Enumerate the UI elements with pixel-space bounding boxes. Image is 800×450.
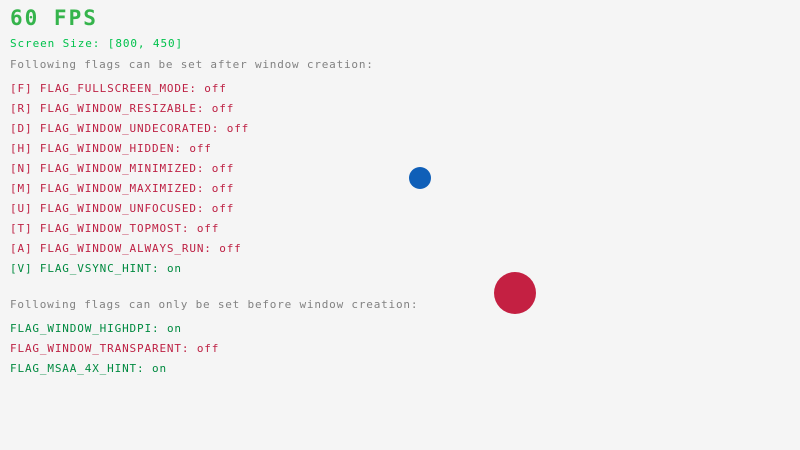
flag-shortcut-key: [R]	[10, 102, 40, 115]
fps-counter: 60 FPS	[10, 7, 98, 29]
flag-row-flag_window_maximized[interactable]: [M] FLAG_WINDOW_MAXIMIZED: off	[10, 179, 430, 199]
flag-row-flag_window_undecorated[interactable]: [D] FLAG_WINDOW_UNDECORATED: off	[10, 119, 430, 139]
flag-row-flag_fullscreen_mode[interactable]: [F] FLAG_FULLSCREEN_MODE: off	[10, 79, 430, 99]
screen-size-label: Screen Size: [800, 450]	[10, 38, 183, 50]
section-header-before-creation: Following flags can only be set before w…	[10, 299, 418, 311]
flag-shortcut-key: [F]	[10, 82, 40, 95]
flag-row-flag_vsync_hint[interactable]: [V] FLAG_VSYNC_HINT: on	[10, 259, 430, 279]
flag-list-before-creation: FLAG_WINDOW_HIGHDPI: onFLAG_WINDOW_TRANS…	[10, 319, 430, 379]
flag-name-label: FLAG_MSAA_4X_HINT:	[10, 362, 152, 375]
flag-shortcut-key: [D]	[10, 122, 40, 135]
flag-state-value: off	[197, 342, 219, 355]
flag-state-value: off	[189, 142, 211, 155]
flag-row-flag_window_hidden[interactable]: [H] FLAG_WINDOW_HIDDEN: off	[10, 139, 430, 159]
flag-state-value: off	[204, 82, 226, 95]
flag-row-flag_window_transparent[interactable]: FLAG_WINDOW_TRANSPARENT: off	[10, 339, 430, 359]
flag-shortcut-key: [M]	[10, 182, 40, 195]
flag-name-label: FLAG_WINDOW_ALWAYS_RUN:	[40, 242, 219, 255]
flag-row-flag_window_minimized[interactable]: [N] FLAG_WINDOW_MINIMIZED: off	[10, 159, 430, 179]
flag-state-value: off	[219, 242, 241, 255]
flag-row-flag_window_unfocused[interactable]: [U] FLAG_WINDOW_UNFOCUSED: off	[10, 199, 430, 219]
flag-row-flag_window_highdpi[interactable]: FLAG_WINDOW_HIGHDPI: on	[10, 319, 430, 339]
flag-shortcut-key: [H]	[10, 142, 40, 155]
flag-state-value: off	[212, 162, 234, 175]
flag-state-value: off	[212, 182, 234, 195]
flag-row-flag_window_topmost[interactable]: [T] FLAG_WINDOW_TOPMOST: off	[10, 219, 430, 239]
flag-shortcut-key: [T]	[10, 222, 40, 235]
bouncing-ball-blue	[409, 167, 431, 189]
raylib-window-canvas[interactable]: 60 FPS Screen Size: [800, 450] Following…	[0, 0, 800, 450]
flag-shortcut-key: [V]	[10, 262, 40, 275]
flag-name-label: FLAG_WINDOW_RESIZABLE:	[40, 102, 212, 115]
flag-name-label: FLAG_VSYNC_HINT:	[40, 262, 167, 275]
flag-name-label: FLAG_WINDOW_TRANSPARENT:	[10, 342, 197, 355]
flag-state-value: on	[167, 262, 182, 275]
flag-name-label: FLAG_WINDOW_MAXIMIZED:	[40, 182, 212, 195]
flag-shortcut-key: [U]	[10, 202, 40, 215]
flag-state-value: off	[212, 202, 234, 215]
section-header-after-creation: Following flags can be set after window …	[10, 59, 374, 71]
flag-list-after-creation: [F] FLAG_FULLSCREEN_MODE: off[R] FLAG_WI…	[10, 79, 430, 279]
flag-name-label: FLAG_FULLSCREEN_MODE:	[40, 82, 204, 95]
bouncing-ball-red	[494, 272, 536, 314]
flag-name-label: FLAG_WINDOW_MINIMIZED:	[40, 162, 212, 175]
flag-shortcut-key: [N]	[10, 162, 40, 175]
flag-state-value: off	[227, 122, 249, 135]
flag-name-label: FLAG_WINDOW_TOPMOST:	[40, 222, 197, 235]
flag-name-label: FLAG_WINDOW_UNFOCUSED:	[40, 202, 212, 215]
flag-state-value: on	[152, 362, 167, 375]
flag-row-flag_window_always_run[interactable]: [A] FLAG_WINDOW_ALWAYS_RUN: off	[10, 239, 430, 259]
flag-state-value: on	[167, 322, 182, 335]
flag-shortcut-key: [A]	[10, 242, 40, 255]
flag-name-label: FLAG_WINDOW_HIGHDPI:	[10, 322, 167, 335]
flag-state-value: off	[197, 222, 219, 235]
flag-name-label: FLAG_WINDOW_HIDDEN:	[40, 142, 189, 155]
flag-row-flag_msaa_4x_hint[interactable]: FLAG_MSAA_4X_HINT: on	[10, 359, 430, 379]
flag-state-value: off	[212, 102, 234, 115]
flag-name-label: FLAG_WINDOW_UNDECORATED:	[40, 122, 227, 135]
flag-row-flag_window_resizable[interactable]: [R] FLAG_WINDOW_RESIZABLE: off	[10, 99, 430, 119]
